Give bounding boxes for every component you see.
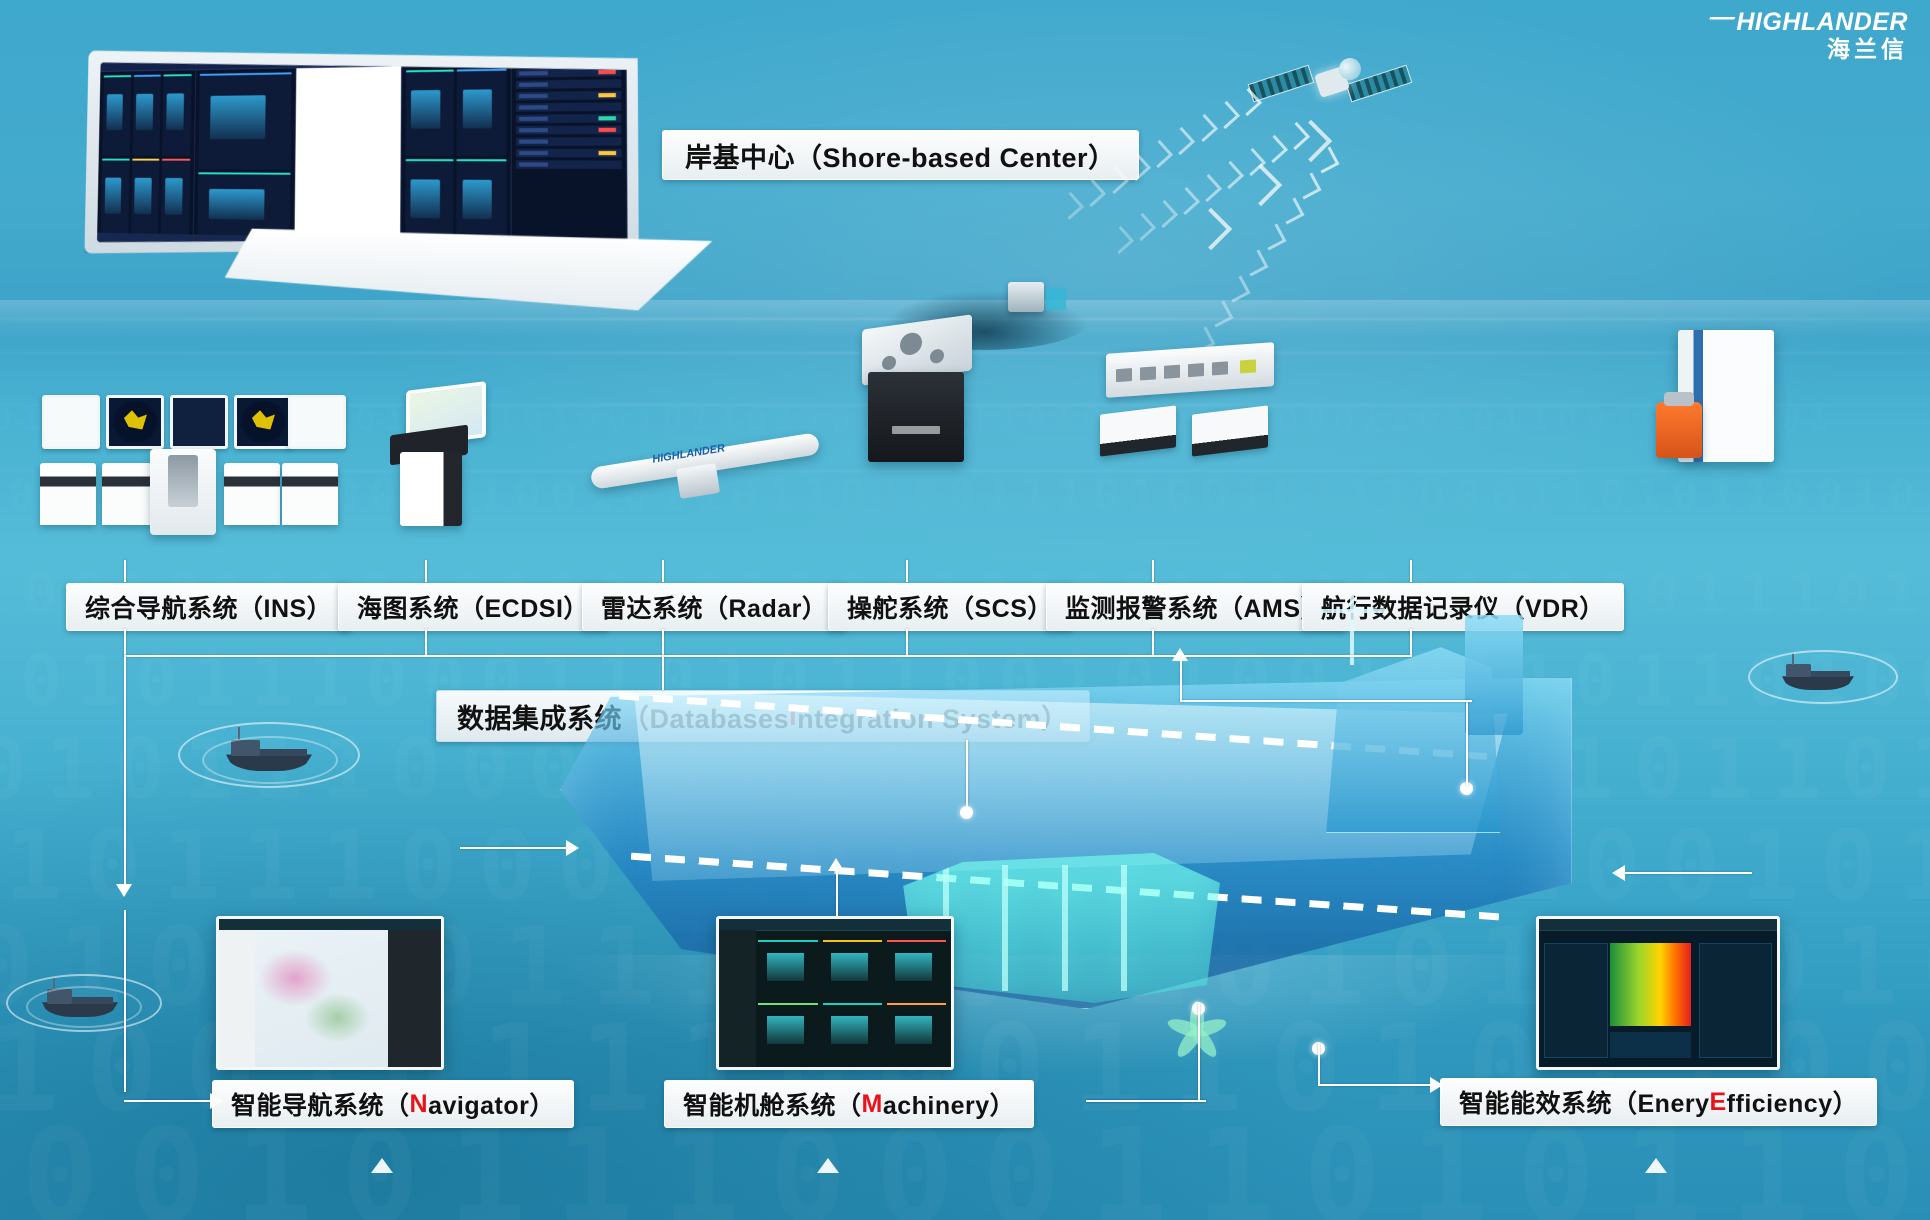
connector-line bbox=[662, 560, 664, 582]
connector-line bbox=[662, 629, 664, 655]
connector-line bbox=[1086, 1100, 1204, 1102]
equipment-label-text: 海图系统（ECDSI） bbox=[357, 589, 589, 625]
logo-dash-icon: — bbox=[1707, 5, 1738, 30]
smart-label-prefix: 智能导航系统（ bbox=[231, 1086, 410, 1122]
connector-arrow-up bbox=[828, 858, 844, 871]
connector-line bbox=[124, 655, 126, 893]
ecdis-kiosk-icon bbox=[388, 386, 484, 526]
energy-efficiency-screen bbox=[1536, 916, 1780, 1070]
connector-line bbox=[1318, 1042, 1320, 1084]
machinery-monitor-screen bbox=[716, 916, 954, 1070]
smart-label-highlight-letter: M bbox=[862, 1090, 883, 1119]
connector-line bbox=[1180, 700, 1472, 702]
signal-chevron-icon bbox=[1242, 249, 1269, 276]
signal-chevron-icon bbox=[1259, 224, 1286, 251]
bottom-marker-triangle bbox=[371, 1158, 393, 1173]
connector-line bbox=[1152, 560, 1154, 582]
wall-screen-chart bbox=[295, 56, 402, 248]
connector-arrow-left bbox=[1612, 865, 1625, 881]
connector-line bbox=[836, 870, 838, 916]
ripple-ring bbox=[202, 736, 338, 784]
connector-line bbox=[1620, 872, 1752, 874]
alarm-module-icon bbox=[1100, 348, 1280, 458]
wall-screen-alarm-list bbox=[511, 52, 627, 253]
solar-panel-left bbox=[1248, 65, 1315, 103]
navigation-chart-screen bbox=[216, 916, 444, 1070]
signal-arrow-icon bbox=[1190, 208, 1232, 250]
video-wall-screens bbox=[97, 52, 628, 253]
smart-label-highlight-letter: N bbox=[410, 1090, 429, 1119]
connector-line bbox=[124, 629, 126, 655]
brand-logo: —HIGHLANDER 海兰信 bbox=[1710, 10, 1908, 61]
ship-mast-yard bbox=[1320, 609, 1386, 613]
signal-chevron-icon bbox=[1106, 226, 1134, 254]
signal-chevron-icon bbox=[1260, 135, 1288, 163]
smart-label-suffix: fficiency） bbox=[1727, 1084, 1858, 1120]
connector-line bbox=[1198, 1002, 1200, 1100]
shore-antenna-icon bbox=[1046, 288, 1066, 310]
label-bridge-console: 综合导航系统（INS） bbox=[66, 583, 351, 631]
video-wall-platform bbox=[224, 228, 712, 313]
connector-arrow-right bbox=[210, 1093, 223, 1109]
radar-antenna-icon: HIGHLANDER bbox=[590, 420, 820, 510]
connector-line bbox=[966, 740, 968, 812]
label-navigation-chart: 智能导航系统（Navigator） bbox=[212, 1080, 574, 1128]
signal-chevron-icon bbox=[1128, 213, 1156, 241]
signal-chevron-icon bbox=[1172, 187, 1200, 215]
signal-chevron-icon bbox=[1167, 127, 1195, 155]
shore-building-icon bbox=[1008, 282, 1044, 312]
connector-line bbox=[124, 560, 126, 582]
smart-label-prefix: 智能机舱系统（ bbox=[683, 1086, 862, 1122]
signal-chevron-icon bbox=[1189, 114, 1217, 142]
bottom-marker-triangle bbox=[1645, 1158, 1667, 1173]
connector-line bbox=[124, 910, 126, 1092]
signal-chevron-icon bbox=[1056, 192, 1084, 220]
connector-arrow-right bbox=[1430, 1077, 1443, 1093]
connector-line bbox=[425, 629, 427, 655]
connector-line bbox=[1152, 629, 1154, 655]
connector-line bbox=[124, 655, 1412, 657]
connector-line bbox=[662, 655, 664, 690]
smart-label-prefix: 智能能效系统（Enery bbox=[1459, 1084, 1709, 1120]
wall-screen-gauges bbox=[401, 54, 512, 251]
signal-chevron-icon bbox=[1212, 101, 1240, 129]
connector-line bbox=[1466, 700, 1468, 786]
smart-label-suffix: avigator） bbox=[428, 1086, 555, 1122]
steering-console-icon bbox=[862, 322, 972, 462]
signal-chevron-icon bbox=[1224, 275, 1251, 302]
label-energy-efficiency: 智能能效系统（Enery Efficiency） bbox=[1440, 1078, 1877, 1126]
wall-screen-ins bbox=[97, 61, 197, 245]
brand-name-cn: 海兰信 bbox=[1710, 38, 1908, 61]
connector-line bbox=[1410, 560, 1412, 582]
brand-name-en: —HIGHLANDER bbox=[1710, 10, 1908, 35]
connector-line bbox=[906, 629, 908, 655]
connector-line bbox=[460, 847, 570, 849]
infographic-canvas: 1010010111000110101100101001011011010011… bbox=[0, 0, 1930, 1220]
connector-arrow-up bbox=[1172, 648, 1188, 661]
equipment-label-text: 综合导航系统（INS） bbox=[85, 589, 332, 625]
satellite-icon bbox=[1243, 40, 1418, 130]
label-machinery-monitor: 智能机舱系统（Machinery） bbox=[664, 1080, 1034, 1128]
ship-funnel bbox=[1465, 615, 1523, 735]
ripple-ring bbox=[1748, 650, 1898, 704]
shore-center-video-wall bbox=[84, 38, 638, 266]
label-shore-center: 岸基中心（Shore-based Center） bbox=[662, 130, 1139, 180]
connector-line bbox=[124, 1100, 214, 1102]
signal-chevron-icon bbox=[1145, 140, 1173, 168]
connector-line bbox=[1318, 1084, 1438, 1086]
smart-label-suffix: achinery） bbox=[883, 1086, 1015, 1122]
signal-chevron-icon bbox=[1194, 174, 1222, 202]
connector-line bbox=[1410, 629, 1412, 655]
vdr-cabinet-icon bbox=[1656, 330, 1774, 462]
signal-chevron-icon bbox=[1078, 179, 1106, 207]
connector-line bbox=[906, 560, 908, 582]
connector-node bbox=[960, 806, 973, 819]
signal-chevron-icon bbox=[1295, 172, 1322, 199]
bottom-marker-triangle bbox=[817, 1158, 839, 1173]
connector-arrow-down bbox=[116, 884, 132, 897]
bridge-console-icon bbox=[34, 395, 334, 525]
connector-arrow-right bbox=[566, 840, 579, 856]
signal-chevron-icon bbox=[1206, 301, 1233, 328]
signal-chevron-icon bbox=[1150, 200, 1178, 228]
connector-line bbox=[425, 560, 427, 582]
connector-line bbox=[1180, 660, 1182, 702]
smart-label-highlight-letter: E bbox=[1709, 1088, 1726, 1117]
signal-chevron-icon bbox=[1277, 198, 1304, 225]
